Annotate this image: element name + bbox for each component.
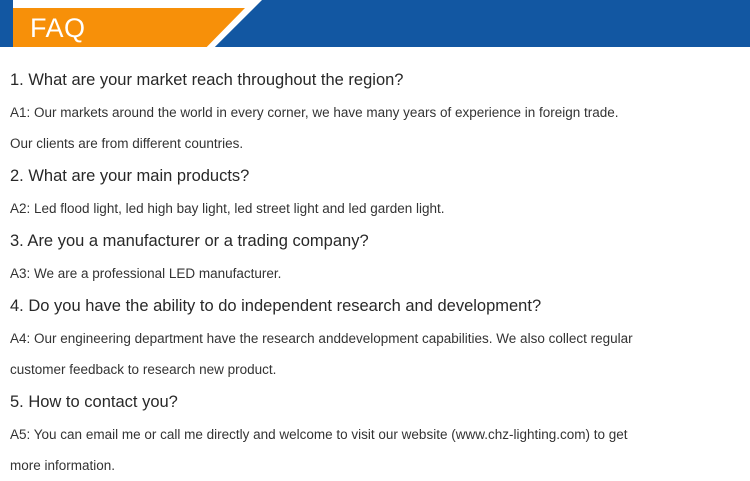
faq-list: 1. What are your market reach throughout… — [0, 47, 750, 481]
faq-item-1: 1. What are your market reach throughout… — [10, 47, 750, 159]
faq-item-2: 2. What are your main products? A2: Led … — [10, 159, 750, 224]
faq-answer-line: A3: We are a professional LED manufactur… — [10, 258, 750, 289]
faq-question: 4. Do you have the ability to do indepen… — [10, 289, 750, 323]
faq-answer-line: Our clients are from different countries… — [10, 128, 750, 159]
page-title: FAQ — [30, 8, 86, 47]
faq-question: 5. How to contact you? — [10, 385, 750, 419]
faq-question: 1. What are your market reach throughout… — [10, 47, 750, 97]
faq-answer-line: more information. — [10, 450, 750, 481]
faq-answer-line: A2: Led flood light, led high bay light,… — [10, 193, 750, 224]
faq-item-3: 3. Are you a manufacturer or a trading c… — [10, 224, 750, 289]
faq-answer-line: A4: Our engineering department have the … — [10, 323, 750, 354]
faq-page: FAQ 1. What are your market reach throug… — [0, 0, 750, 469]
faq-question: 2. What are your main products? — [10, 159, 750, 193]
faq-item-5: 5. How to contact you? A5: You can email… — [10, 385, 750, 481]
banner-blue-left-stripe — [0, 0, 13, 47]
faq-question: 3. Are you a manufacturer or a trading c… — [10, 224, 750, 258]
faq-answer-line: A1: Our markets around the world in ever… — [10, 97, 750, 128]
faq-header-banner: FAQ — [0, 0, 750, 47]
faq-answer-line: A5: You can email me or call me directly… — [10, 419, 750, 450]
faq-answer-line: customer feedback to research new produc… — [10, 354, 750, 385]
faq-item-4: 4. Do you have the ability to do indepen… — [10, 289, 750, 385]
